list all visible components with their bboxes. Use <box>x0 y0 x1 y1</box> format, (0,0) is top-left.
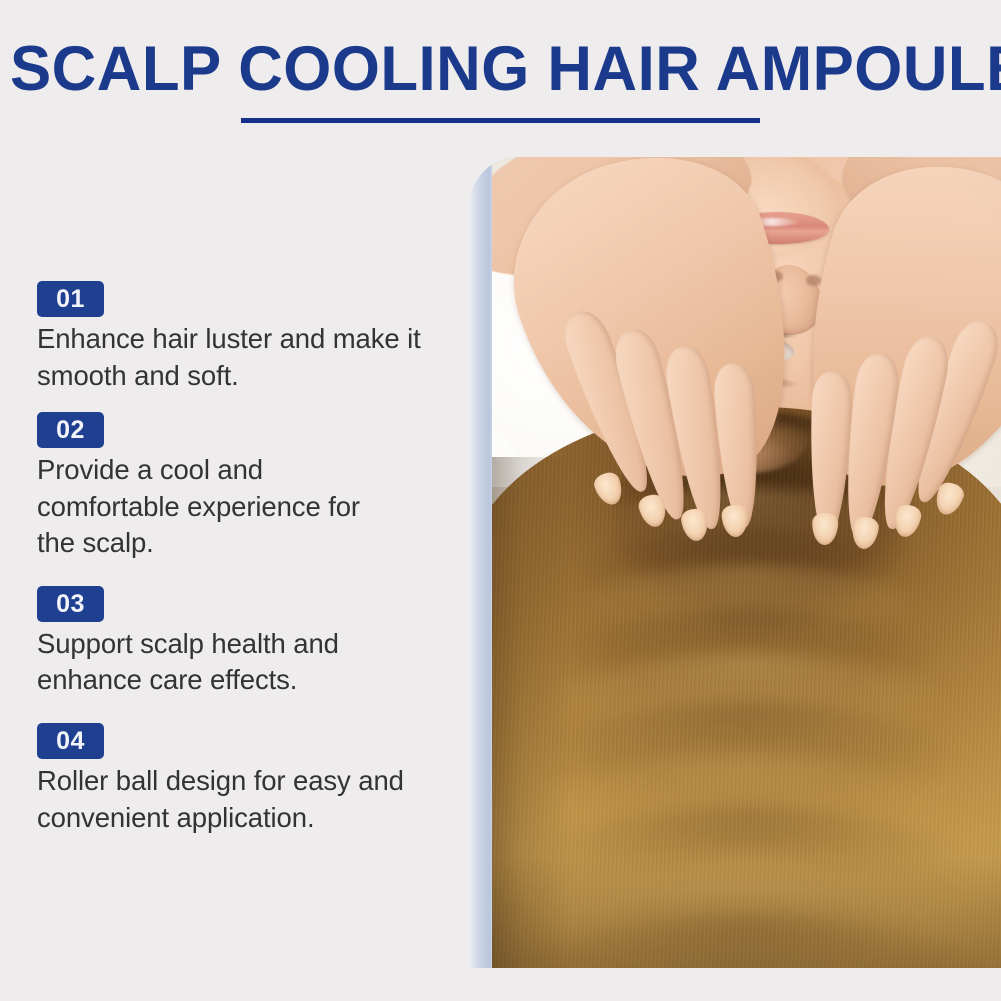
product-photo-panel <box>470 157 1001 968</box>
page-title: SCALP COOLING HAIR AMPOULE <box>10 36 991 102</box>
header: SCALP COOLING HAIR AMPOULE <box>0 36 1001 102</box>
photo-frame-band <box>470 157 1001 968</box>
feature-text: Enhance hair luster and make it smooth a… <box>37 321 433 394</box>
title-underline <box>241 118 760 123</box>
feature-item-02: 02 Provide a cool and comfortable experi… <box>37 412 447 562</box>
feature-number-badge: 03 <box>37 586 104 622</box>
photo-vignette <box>492 157 1001 968</box>
feature-item-04: 04 Roller ball design for easy and conve… <box>37 723 447 836</box>
feature-number-badge: 04 <box>37 723 104 759</box>
feature-text: Provide a cool and comfortable experienc… <box>37 452 403 562</box>
feature-item-01: 01 Enhance hair luster and make it smoot… <box>37 281 447 394</box>
product-infographic: SCALP COOLING HAIR AMPOULE 01 Enhance ha… <box>0 0 1001 1001</box>
feature-list: 01 Enhance hair luster and make it smoot… <box>37 281 447 850</box>
feature-text: Support scalp health and enhance care ef… <box>37 626 385 699</box>
feature-number-badge: 01 <box>37 281 104 317</box>
product-photo <box>492 157 1001 968</box>
feature-item-03: 03 Support scalp health and enhance care… <box>37 586 447 699</box>
feature-text: Roller ball design for easy and convenie… <box>37 763 437 836</box>
feature-number-badge: 02 <box>37 412 104 448</box>
